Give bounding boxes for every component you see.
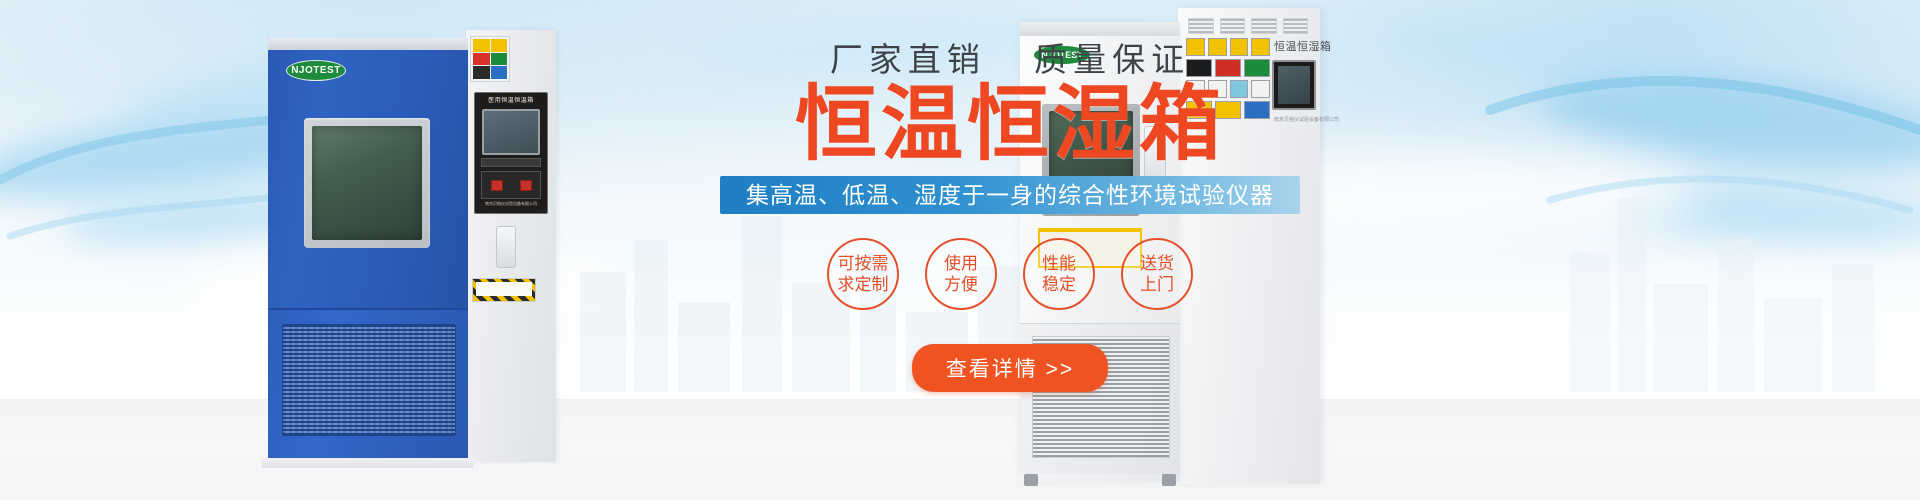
page-title: 恒温恒湿箱 (700, 82, 1320, 168)
left-panel-button-row[interactable] (481, 171, 541, 199)
badge-line-2: 求定制 (838, 274, 889, 295)
badge-line-1: 可按需 (838, 253, 889, 274)
left-cabinet-body: NJOTEST (268, 38, 468, 458)
left-cabinet-control-panel[interactable]: 医用恒温恒温箱 南京贝帕仪试验设备有限公司 (474, 92, 548, 214)
left-cabinet-hazard-tag (472, 278, 536, 302)
left-cabinet-top-cap (268, 38, 468, 50)
left-cabinet-control-side: 医用恒温恒温箱 南京贝帕仪试验设备有限公司 (466, 30, 556, 462)
feature-badge-stable[interactable]: 性能 稳定 (1023, 238, 1095, 310)
cloud-wisp-icon (1378, 9, 1682, 100)
cloud-wisp-icon (1537, 58, 1920, 185)
feature-badge-custom[interactable]: 可按需 求定制 (827, 238, 899, 310)
badge-line-2: 方便 (944, 274, 978, 295)
right-cabinet-top-vents (1188, 18, 1308, 32)
banner-subtitle-bar: 集高温、低温、湿度于一身的综合性环境试验仪器 (720, 176, 1300, 214)
left-panel-run-button[interactable] (491, 180, 503, 191)
eyebrow-left-text: 厂家直销 (830, 41, 986, 78)
feature-badge-list: 可按需 求定制 使用 方便 性能 稳定 送货 上门 (700, 238, 1320, 310)
left-panel-company-text: 南京贝帕仪试验设备有限公司 (479, 201, 543, 207)
left-cabinet-door-handle[interactable] (496, 226, 516, 268)
left-panel-title: 医用恒温恒温箱 (479, 97, 543, 106)
feature-badge-delivery[interactable]: 送货 上门 (1121, 238, 1193, 310)
badge-line-1: 性能 (1042, 253, 1076, 274)
left-cabinet-viewing-window (304, 118, 430, 248)
left-cabinet-lower-panel (268, 308, 468, 458)
left-panel-indicator-strip (481, 158, 541, 167)
banner-eyebrow: 厂家直销 质量保证 (700, 40, 1320, 80)
right-cabinet-legs (1024, 474, 1176, 486)
badge-line-2: 稳定 (1042, 274, 1076, 295)
blue-swoosh-decoration (1460, 40, 1920, 270)
badge-line-2: 上门 (1140, 274, 1174, 295)
promo-banner: 医用恒温恒温箱 南京贝帕仪试验设备有限公司 NJOTEST (0, 0, 1920, 500)
left-cabinet-vent-grille (282, 324, 456, 436)
cta-container: 查看详情 >> (700, 344, 1320, 392)
left-cabinet-base-plinth (262, 458, 474, 468)
eyebrow-right-text: 质量保证 (1034, 41, 1190, 78)
left-panel-display-screen[interactable] (482, 109, 540, 155)
brand-logo-njotest: NJOTEST (286, 60, 346, 81)
cloud-wisp-icon (1619, 181, 1920, 250)
left-cabinet-window-glass (312, 126, 422, 240)
banner-text-block: 厂家直销 质量保证 恒温恒湿箱 集高温、低温、湿度于一身的综合性环境试验仪器 可… (700, 40, 1320, 392)
left-panel-power-button[interactable] (520, 180, 532, 191)
product-image-left: 医用恒温恒温箱 南京贝帕仪试验设备有限公司 NJOTEST (268, 30, 556, 470)
warning-label-icon (470, 36, 510, 82)
right-cabinet-top-cap (1020, 22, 1180, 36)
feature-badge-easy-use[interactable]: 使用 方便 (925, 238, 997, 310)
badge-line-1: 送货 (1140, 253, 1174, 274)
view-details-button[interactable]: 查看详情 >> (912, 344, 1108, 392)
badge-line-1: 使用 (944, 253, 978, 274)
city-skyline-silhouette (1560, 152, 1920, 392)
